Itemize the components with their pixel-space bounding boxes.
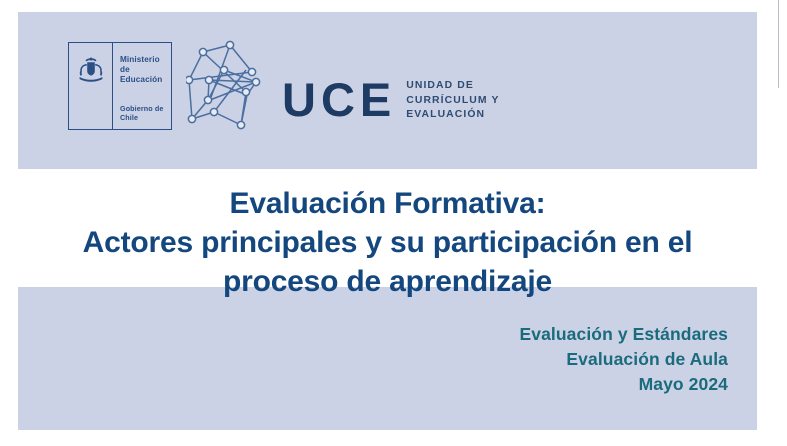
uce-subtitle-line2: CURRÍCULUM Y xyxy=(406,94,499,109)
slide-title-line2: Actores principales y su participación e… xyxy=(32,223,743,262)
uce-subtitle: UNIDAD DE CURRÍCULUM Y EVALUACIÓN xyxy=(398,49,499,123)
slide-title-line3: proceso de aprendizaje xyxy=(32,262,743,301)
logo-row: Ministerio de Educación Gobierno de Chil… xyxy=(68,32,499,140)
chile-coat-of-arms-icon xyxy=(76,56,106,84)
slide-credit: Evaluación y Estándares Evaluación de Au… xyxy=(519,322,728,398)
gobierno-de-chile-label: Gobierno de Chile xyxy=(120,104,171,122)
slide-title-line1: Evaluación Formativa: xyxy=(32,184,743,223)
credit-line2: Evaluación de Aula xyxy=(519,347,728,372)
node-link-network-icon xyxy=(186,37,278,135)
slide-title: Evaluación Formativa: Actores principale… xyxy=(18,184,757,301)
document-viewport: Ministerio de Educación Gobierno de Chil… xyxy=(0,0,787,446)
uce-wordmark: UCE xyxy=(280,50,396,123)
credit-line3: Mayo 2024 xyxy=(519,372,728,397)
logo-text-panel: Ministerio de Educación Gobierno de Chil… xyxy=(113,43,171,129)
uce-logo: UCE UNIDAD DE CURRÍCULUM Y EVALUACIÓN xyxy=(186,36,499,136)
scrollbar-track[interactable] xyxy=(778,0,779,88)
ministerio-educacion-logo: Ministerio de Educación Gobierno de Chil… xyxy=(68,42,172,130)
presentation-slide: Ministerio de Educación Gobierno de Chil… xyxy=(18,12,757,430)
uce-subtitle-line1: UNIDAD DE xyxy=(406,79,499,94)
credit-line1: Evaluación y Estándares xyxy=(519,322,728,347)
uce-subtitle-line3: EVALUACIÓN xyxy=(406,108,499,123)
logo-emblem-panel xyxy=(69,43,113,129)
ministerio-name-line2: Educación xyxy=(120,75,171,85)
ministerio-name: Ministerio de Educación xyxy=(120,55,171,85)
ministerio-name-line1: Ministerio de xyxy=(120,55,171,75)
